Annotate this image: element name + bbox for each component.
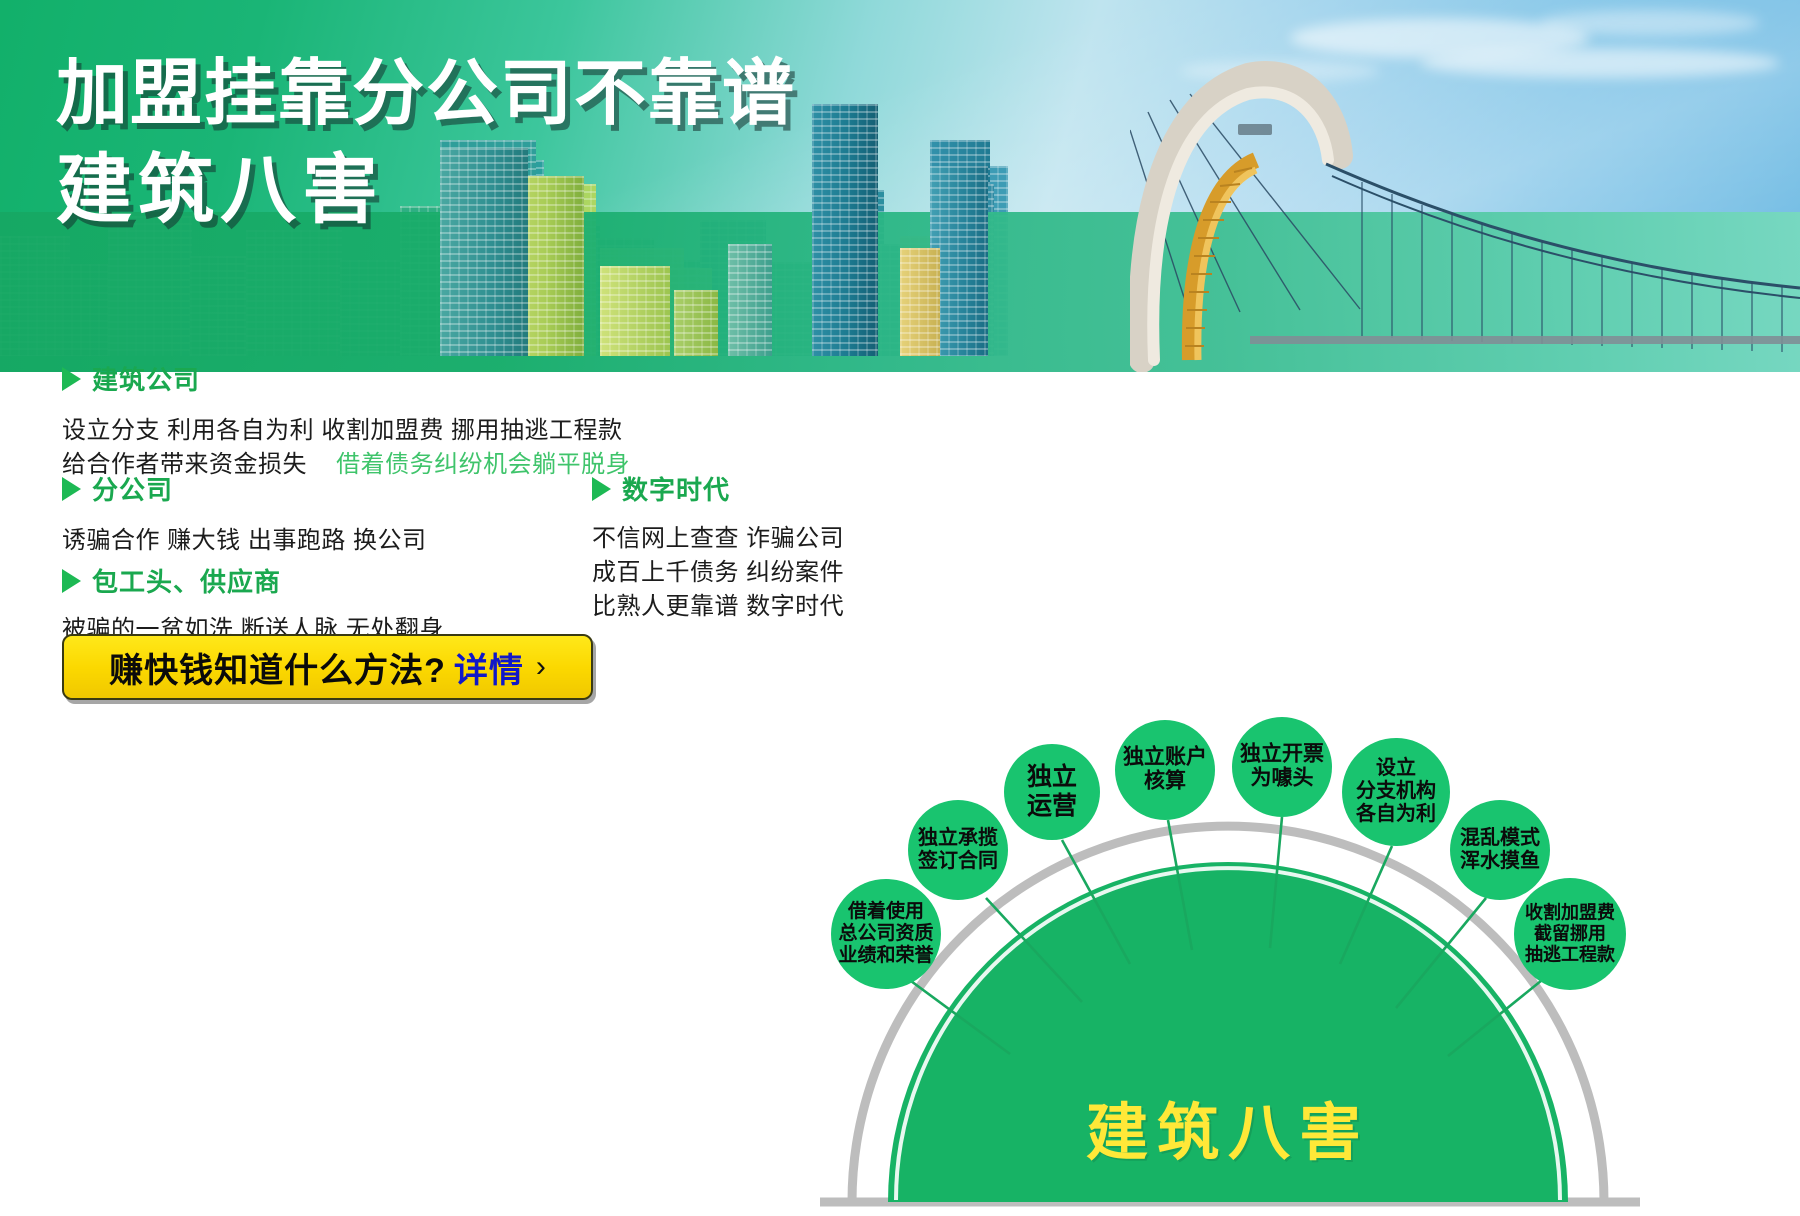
- section-line: 比熟人更靠谱 数字时代: [592, 590, 844, 624]
- section-line: 不信网上查查 诈骗公司: [592, 522, 844, 556]
- skyline-tower: [900, 248, 940, 356]
- section-digital-era: 数字时代 不信网上查查 诈骗公司 成百上千债务 纠纷案件 比熟人更靠谱 数字时代: [592, 470, 844, 624]
- section-line: 设立分支 利用各自为利 收割加盟费 挪用抽逃工程款: [62, 414, 630, 448]
- cloud-shape: [1540, 10, 1760, 36]
- bubble-node[interactable]: [831, 879, 941, 989]
- cta-main-label: 赚快钱知道什么方法?: [109, 643, 446, 692]
- skyline-tower: [812, 104, 878, 356]
- section-header: 数字时代: [592, 470, 844, 507]
- bridge-illustration: [1130, 60, 1800, 372]
- section-line-text: 比熟人更靠谱 数字时代: [592, 593, 844, 620]
- bubble-node[interactable]: [1115, 720, 1215, 820]
- content-area: 建筑公司 设立分支 利用各自为利 收割加盟费 挪用抽逃工程款 给合作者带来资金损…: [0, 372, 1800, 844]
- triangle-bullet-icon: [62, 367, 81, 391]
- section-line-text: 不信网上查查 诈骗公司: [592, 525, 844, 552]
- bubble-node[interactable]: [1232, 717, 1332, 817]
- triangle-bullet-icon: [62, 569, 81, 593]
- eight-harms-diagram: 借着使用 总公司资质 业绩和荣誉 独立承揽 签订合同 独立 运营 独立账户 核算…: [800, 702, 1800, 1216]
- skyline-tower: [728, 244, 772, 356]
- skyline-tower: [600, 266, 670, 356]
- hero-banner: 加盟挂靠分公司不靠谱 建筑八害: [0, 0, 1800, 372]
- section-header: 包工头、供应商: [62, 562, 444, 599]
- bubble-node[interactable]: [1342, 738, 1450, 846]
- section-header: 分公司: [62, 470, 427, 507]
- triangle-bullet-icon: [62, 477, 81, 501]
- section-line: 成百上千债务 纠纷案件: [592, 556, 844, 590]
- section-title: 数字时代: [622, 470, 730, 507]
- section-title: 建筑公司: [92, 360, 200, 397]
- section-construction-company: 建筑公司 设立分支 利用各自为利 收割加盟费 挪用抽逃工程款 给合作者带来资金损…: [62, 360, 630, 482]
- section-title: 分公司: [92, 470, 173, 507]
- section-branch-company: 分公司 诱骗合作 赚大钱 出事跑路 换公司: [62, 470, 427, 558]
- section-header: 建筑公司: [62, 360, 630, 397]
- bubble-node[interactable]: [1514, 878, 1626, 990]
- section-line-text: 设立分支 利用各自为利 收割加盟费 挪用抽逃工程款: [62, 417, 623, 444]
- bubble-node[interactable]: [908, 800, 1008, 900]
- cta-link-label[interactable]: 详情: [454, 643, 524, 692]
- hero-title-line2: 建筑八害: [56, 145, 796, 236]
- infographic-poster: 加盟挂靠分公司不靠谱 建筑八害 建筑公司 设立分支 利用各自为利 收割加盟费 挪…: [0, 0, 1800, 844]
- section-title: 包工头、供应商: [92, 562, 281, 599]
- section-line-text: 诱骗合作 赚大钱 出事跑路 换公司: [62, 527, 427, 554]
- details-cta-button[interactable]: 赚快钱知道什么方法? 详情 ›: [62, 634, 593, 700]
- section-line-text: 成百上千债务 纠纷案件: [592, 559, 844, 586]
- bubble-node[interactable]: [1004, 744, 1100, 840]
- triangle-bullet-icon: [592, 477, 611, 501]
- chevron-right-icon: ›: [536, 650, 546, 684]
- skyline-tower: [674, 290, 718, 356]
- hero-title-line1: 加盟挂靠分公司不靠谱: [56, 52, 796, 137]
- hero-title-group: 加盟挂靠分公司不靠谱 建筑八害: [56, 52, 796, 236]
- bubble-node[interactable]: [1450, 800, 1550, 900]
- section-line: 诱骗合作 赚大钱 出事跑路 换公司: [62, 524, 427, 558]
